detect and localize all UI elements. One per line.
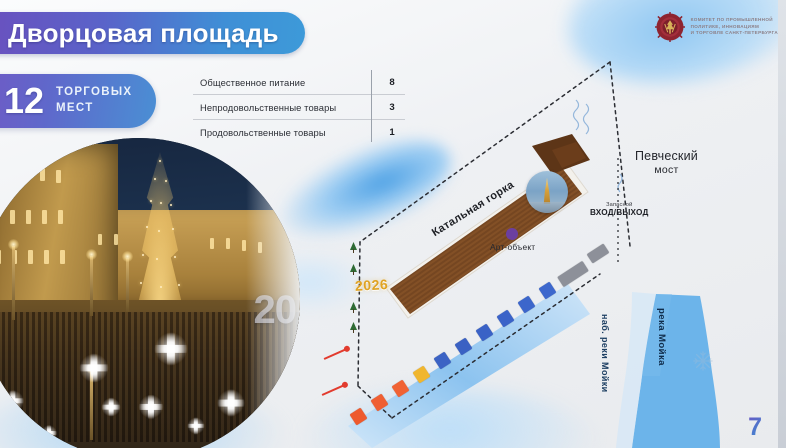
tree-icon xyxy=(350,242,357,253)
art-object-spire xyxy=(542,178,552,204)
snowflake-icon xyxy=(692,350,714,372)
trade-places-label-line2: МЕСТ xyxy=(56,101,132,117)
photo-streetlamp xyxy=(12,246,15,320)
photo-streetlamp xyxy=(126,258,129,312)
page-number: 7 xyxy=(748,413,762,442)
photo-streetlamp xyxy=(90,256,93,316)
snow-squiggle-decor xyxy=(574,100,623,192)
page-title: Дворцовая площадь xyxy=(0,12,305,54)
tree-icon xyxy=(350,322,357,333)
emblem-icon xyxy=(655,12,685,42)
trade-places-count: 12 xyxy=(4,83,44,119)
kiosk-row-band xyxy=(348,284,590,448)
tree-icon xyxy=(350,302,357,313)
art-object-photo-icon xyxy=(526,171,568,213)
trade-places-badge: 12 ТОРГОВЫХ МЕСТ xyxy=(0,74,156,128)
tree-icon xyxy=(350,264,357,275)
palace-square-photo: 20 xyxy=(0,138,300,448)
photo-right-fade xyxy=(212,138,300,448)
committee-logo: Комитет по промышленной политике, иннова… xyxy=(655,12,778,42)
photo-streetlamp xyxy=(90,370,93,440)
map-vector-layer xyxy=(300,46,786,448)
page-title-text: Дворцовая площадь xyxy=(8,18,279,49)
trade-places-label-line1: ТОРГОВЫХ xyxy=(56,85,132,101)
site-map: Певческий мост Катальная горка Арт-объек… xyxy=(300,46,786,448)
art-object-dot xyxy=(506,228,518,240)
trade-places-label: ТОРГОВЫХ МЕСТ xyxy=(56,85,132,116)
art-object-base xyxy=(526,202,568,213)
slide-root: Дворцовая площадь 12 ТОРГОВЫХ МЕСТ Общес… xyxy=(0,0,786,448)
committee-logo-text: Комитет по промышленной политике, иннова… xyxy=(691,17,778,38)
